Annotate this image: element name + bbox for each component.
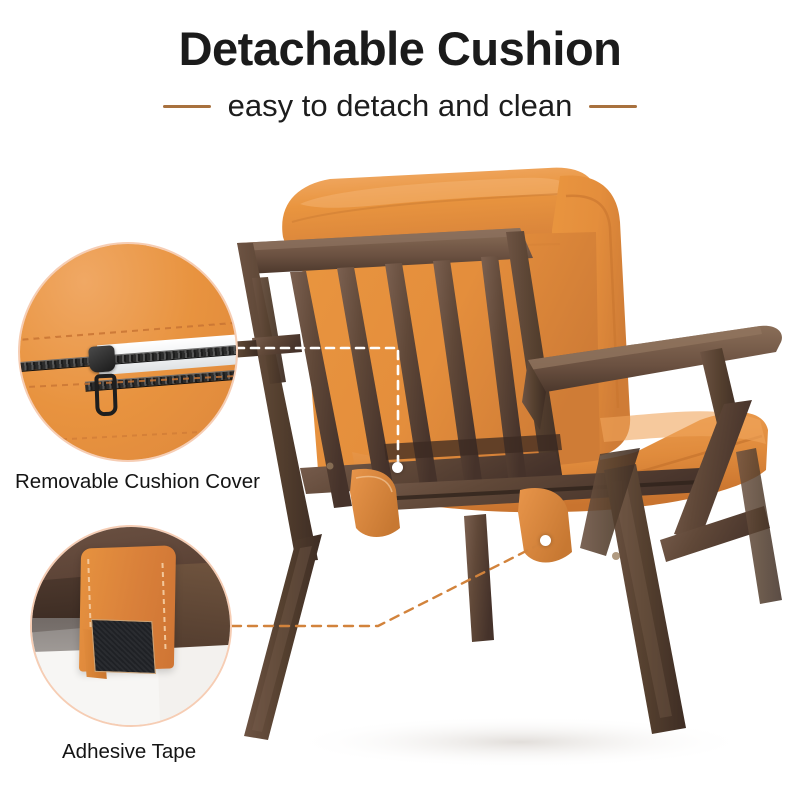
infographic-canvas: Detachable Cushion easy to detach and cl… (0, 0, 800, 800)
callout-adhesive-tape[interactable] (30, 525, 232, 727)
callout-removable-cushion-cover[interactable] (18, 242, 238, 462)
callout-label-removable-cushion-cover: Removable Cushion Cover (15, 470, 260, 494)
velcro-adhesive-patch (91, 619, 156, 674)
leader-endpoint-adhesive-tape (540, 535, 551, 546)
callout-label-adhesive-tape: Adhesive Tape (62, 740, 196, 764)
zipper-slider-icon (88, 345, 116, 373)
zipper-pull-tab-icon (94, 373, 117, 416)
leader-endpoint-cushion-cover (392, 462, 403, 473)
